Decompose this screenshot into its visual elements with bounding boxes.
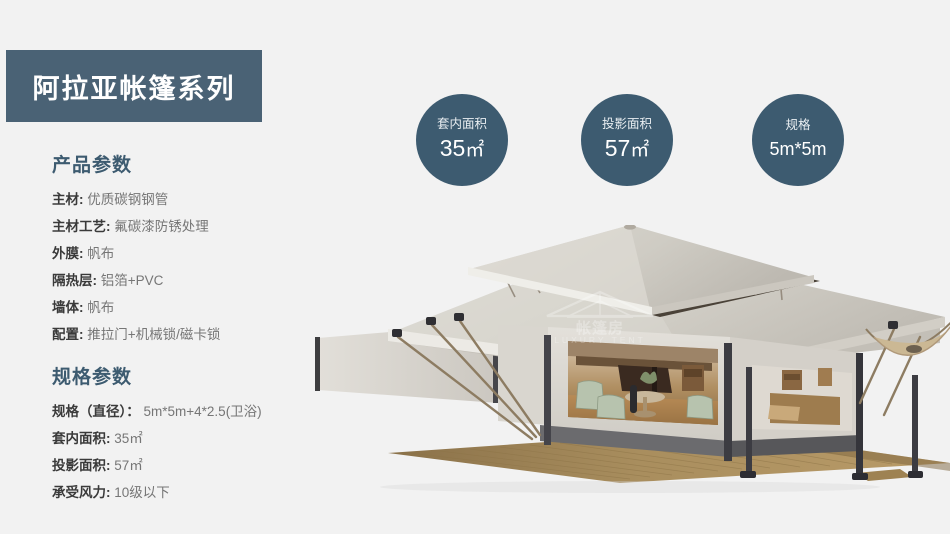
spec-value: 35㎡ bbox=[114, 431, 143, 446]
spec-value: 10级以下 bbox=[114, 485, 170, 500]
spec-value: 推拉门+机械锁/磁卡锁 bbox=[87, 327, 220, 342]
tent-illustration bbox=[300, 225, 950, 520]
stat-circle-interior-area: 套内面积 35㎡ bbox=[416, 94, 508, 186]
stat-value: 5m*5m bbox=[769, 135, 826, 163]
stat-unit: ㎡ bbox=[630, 139, 649, 160]
stat-value: 35㎡ bbox=[440, 134, 484, 164]
spec-label: 配置: bbox=[52, 327, 84, 342]
spec-value: 5m*5m+4*2.5(卫浴) bbox=[144, 404, 262, 419]
page-title: 阿拉亚帐篷系列 bbox=[33, 67, 236, 106]
spec-label: 隔热层: bbox=[52, 273, 97, 288]
tent-interior-living-room bbox=[568, 341, 718, 425]
stat-circle-projected-area: 投影面积 57㎡ bbox=[581, 94, 673, 186]
spec-value: 优质碳钢钢管 bbox=[87, 192, 168, 207]
spec-value: 57㎡ bbox=[114, 458, 143, 473]
tent-interior-right-bay bbox=[752, 365, 852, 431]
stat-label: 投影面积 bbox=[602, 117, 652, 132]
product-spec-page: 阿拉亚帐篷系列 套内面积 35㎡ 投影面积 57㎡ 规格 5m*5m 产品参数 … bbox=[0, 0, 950, 534]
spec-label: 规格（直径）： bbox=[52, 404, 140, 419]
spec-value: 帆布 bbox=[87, 300, 114, 315]
stat-value: 57㎡ bbox=[605, 134, 649, 164]
spec-label: 投影面积: bbox=[52, 458, 111, 473]
spec-row: 主材: 优质碳钢钢管 bbox=[52, 186, 352, 213]
stat-unit: ㎡ bbox=[465, 139, 484, 160]
product-params-heading: 产品参数 bbox=[52, 150, 352, 177]
spec-label: 承受风力: bbox=[52, 485, 111, 500]
spec-label: 主材: bbox=[52, 192, 84, 207]
spec-label: 外膜: bbox=[52, 246, 84, 261]
spec-value: 氟碳漆防锈处理 bbox=[114, 219, 209, 234]
stat-label: 套内面积 bbox=[437, 117, 487, 132]
spec-label: 套内面积: bbox=[52, 431, 111, 446]
spec-value: 铝箔+PVC bbox=[101, 273, 164, 288]
spec-value: 帆布 bbox=[87, 246, 114, 261]
spec-label: 墙体: bbox=[52, 300, 84, 315]
stat-circle-dimensions: 规格 5m*5m bbox=[752, 94, 844, 186]
spec-label: 主材工艺: bbox=[52, 219, 111, 234]
stat-label: 规格 bbox=[785, 118, 810, 133]
title-banner: 阿拉亚帐篷系列 bbox=[6, 50, 262, 122]
